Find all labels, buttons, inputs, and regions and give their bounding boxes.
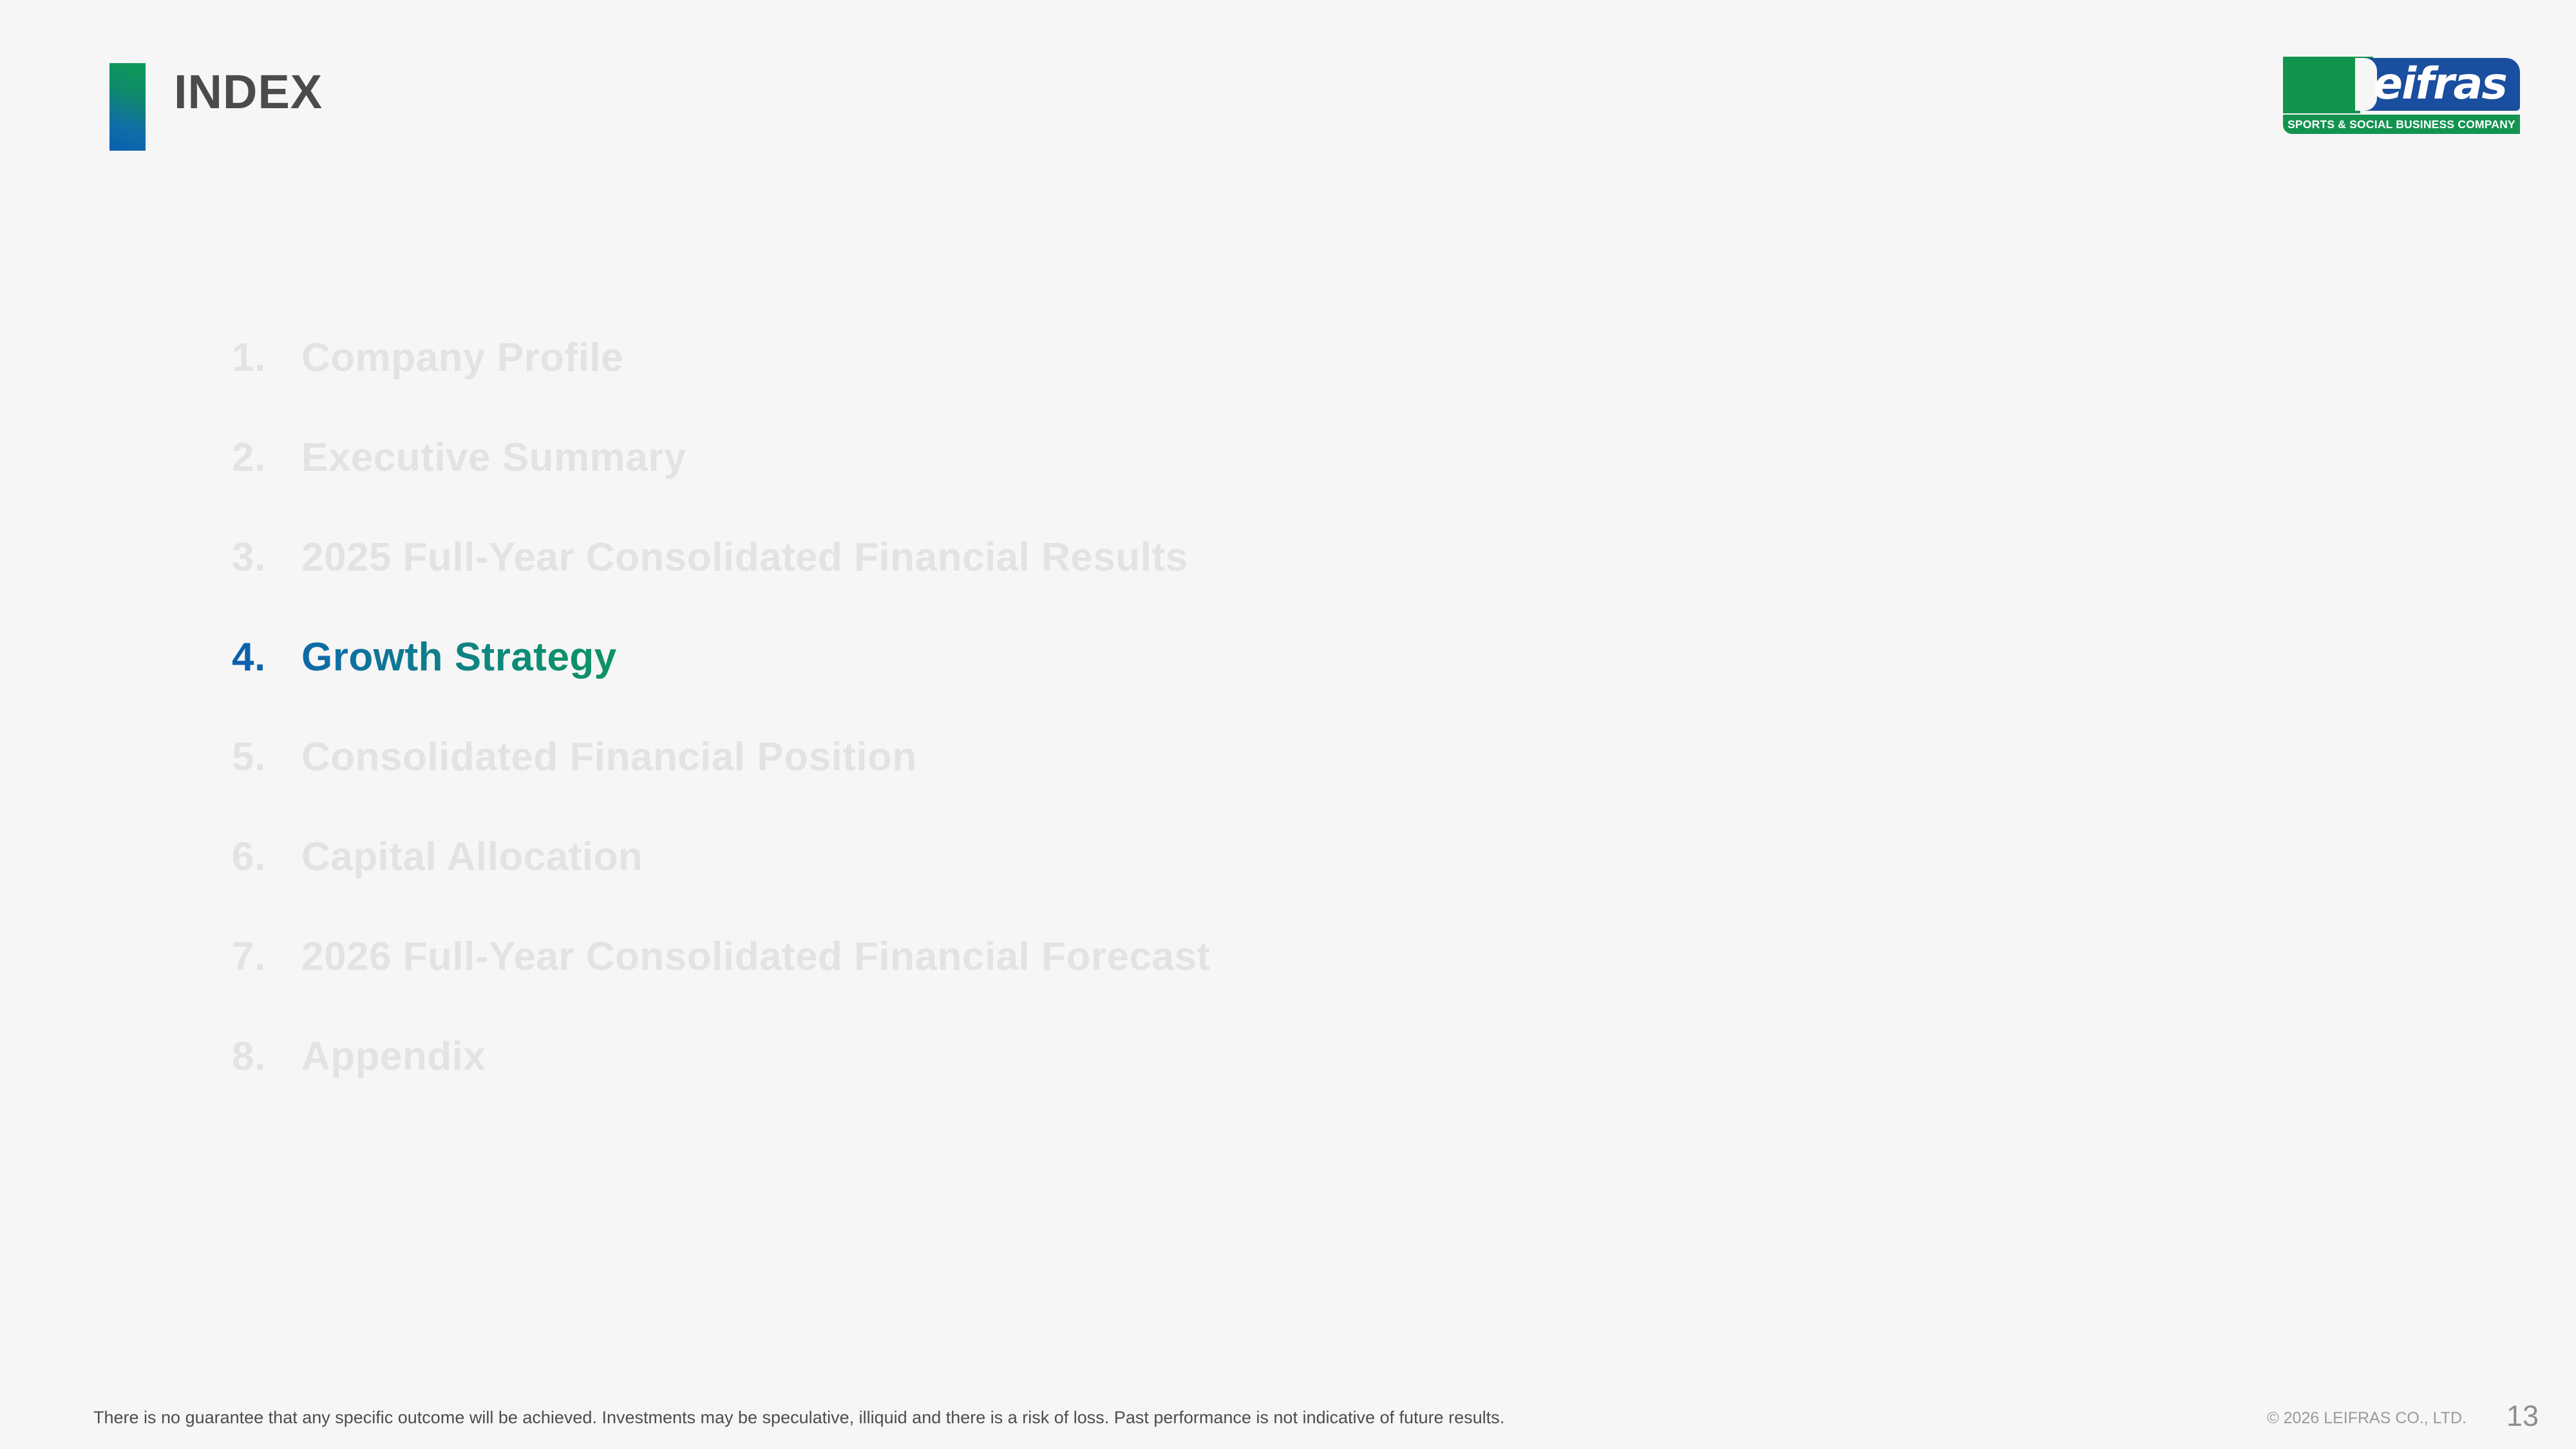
- footer-copyright: © 2026 LEIFRAS CO., LTD.: [2267, 1410, 2467, 1426]
- index-item-8-number: 8.: [232, 1034, 301, 1079]
- index-item-6-label: Capital Allocation: [301, 834, 643, 880]
- index-item-5-number: 5.: [232, 734, 301, 780]
- index-item-6[interactable]: 6. Capital Allocation: [232, 834, 2164, 934]
- index-item-4[interactable]: 4. Growth Strategy: [232, 634, 2164, 734]
- index-item-7-label: 2026 Full-Year Consolidated Financial Fo…: [301, 934, 1211, 980]
- logo-wordmark: eifras: [2373, 61, 2519, 109]
- page-number: 13: [2506, 1401, 2539, 1430]
- leifras-logo: eifras SPORTS & SOCIAL BUSINESS COMPANY: [2283, 57, 2520, 134]
- index-item-8[interactable]: 8. Appendix: [232, 1034, 2164, 1133]
- slide-header: INDEX eifras SPORTS & SOCIAL BUSINESS CO…: [0, 0, 2576, 167]
- index-item-4-label: Growth Strategy: [301, 634, 617, 680]
- index-item-4-number: 4.: [232, 634, 301, 680]
- slide-root: INDEX eifras SPORTS & SOCIAL BUSINESS CO…: [0, 0, 2576, 1449]
- index-item-6-number: 6.: [232, 834, 301, 880]
- index-item-1[interactable]: 1. Company Profile: [232, 335, 2164, 435]
- index-item-2-number: 2.: [232, 435, 301, 480]
- slide-footer: There is no guarantee that any specific …: [0, 1378, 2576, 1449]
- index-item-5[interactable]: 5. Consolidated Financial Position: [232, 734, 2164, 834]
- index-item-3-label: 2025 Full-Year Consolidated Financial Re…: [301, 535, 1188, 580]
- logo-tagline: SPORTS & SOCIAL BUSINESS COMPANY: [2283, 115, 2520, 134]
- index-item-7-number: 7.: [232, 934, 301, 980]
- index-item-7[interactable]: 7. 2026 Full-Year Consolidated Financial…: [232, 934, 2164, 1034]
- index-item-3-number: 3.: [232, 535, 301, 580]
- accent-bar-icon: [109, 63, 146, 151]
- footer-disclaimer: There is no guarantee that any specific …: [93, 1409, 1504, 1426]
- index-item-5-label: Consolidated Financial Position: [301, 734, 917, 780]
- index-list: 1. Company Profile 2. Executive Summary …: [232, 335, 2164, 1133]
- index-item-1-label: Company Profile: [301, 335, 623, 381]
- index-item-2[interactable]: 2. Executive Summary: [232, 435, 2164, 535]
- index-item-8-label: Appendix: [301, 1034, 486, 1079]
- page-title: INDEX: [174, 68, 323, 116]
- index-item-3[interactable]: 3. 2025 Full-Year Consolidated Financial…: [232, 535, 2164, 634]
- index-item-2-label: Executive Summary: [301, 435, 687, 480]
- index-item-1-number: 1.: [232, 335, 301, 381]
